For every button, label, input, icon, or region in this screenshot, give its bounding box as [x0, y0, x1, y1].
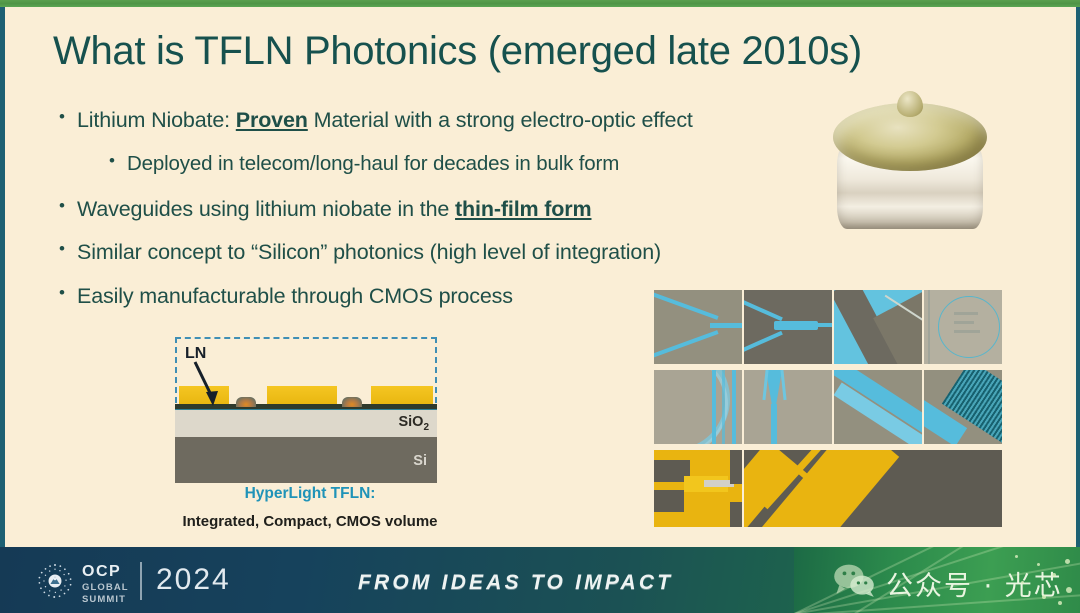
sio2-label-subscript: 2: [423, 422, 429, 433]
footer-tagline: FROM IDEAS TO IMPACT: [358, 571, 673, 595]
waveguide-ridge-1: [236, 397, 256, 407]
bullet-emphasis-1: Proven: [236, 108, 308, 132]
wechat-icon: [832, 563, 876, 597]
wechat-watermark-overlay: 公众号 · 光芯: [794, 547, 1080, 613]
boule-seed-nub: [897, 91, 923, 117]
micrograph-cell-3-2: [654, 450, 742, 527]
bullet-item-3: Waveguides using lithium niobate in the …: [51, 196, 841, 223]
bullet-item-4: Similar concept to “Silicon” photonics (…: [51, 239, 841, 266]
hyperlight-brand-caption: HyperLight TFLN:: [115, 485, 505, 503]
ocp-logo-line2: GLOBAL: [82, 583, 129, 593]
ocp-logo-wordmark: OCP GLOBAL SUMMIT: [82, 564, 129, 604]
ocp-logo-line3: SUMMIT: [82, 595, 129, 605]
lithium-niobate-boule-photo: [831, 85, 989, 250]
diagram-detail-caption: Integrated, Compact, CMOS volume: [105, 513, 515, 530]
micrograph-row-1: [654, 290, 1002, 364]
sio2-label-text: SiO: [398, 414, 423, 430]
gold-electrode-2: [267, 386, 337, 404]
gold-electrode-3: [371, 386, 433, 404]
bullet-text-suffix-1: Material with a strong electro-optic eff…: [308, 108, 693, 132]
bullet-text-prefix-4: Similar concept to “Silicon” photonics (…: [77, 240, 661, 264]
presentation-slide: What is TFLN Photonics (emerged late 201…: [0, 7, 1080, 604]
bullet-text-prefix-1: Lithium Niobate:: [77, 108, 236, 132]
micrograph-cell-2-3: [834, 370, 922, 444]
bullet-emphasis-3: thin-film form: [455, 197, 591, 221]
micrograph-cell-2-2: [744, 370, 832, 444]
micrograph-cell-1-4: [924, 290, 1002, 364]
bullet-item-1: Lithium Niobate: Proven Material with a …: [51, 107, 841, 134]
footer-year: 2024: [156, 563, 231, 597]
bullet-text-prefix-5: Easily manufacturable through CMOS proce…: [77, 284, 513, 308]
ln-pointer-arrow-icon: [189, 359, 225, 409]
micrograph-cell-3-4: [744, 450, 1002, 527]
si-layer-label: Si: [413, 453, 427, 469]
silicon-substrate-layer: [175, 437, 437, 483]
micrograph-cell-2-1: [654, 370, 742, 444]
micrograph-cell-1-2: [744, 290, 832, 364]
ocp-logo-icon: [36, 562, 74, 600]
chip-micrograph-grid: [654, 290, 1002, 527]
micrograph-row-2: [654, 370, 1002, 444]
slide-title: What is TFLN Photonics (emerged late 201…: [53, 29, 862, 74]
micrograph-cell-1-1: [654, 290, 742, 364]
bullet-item-2: Deployed in telecom/long-haul for decade…: [51, 151, 841, 177]
micrograph-row-3: [654, 450, 1002, 527]
bullet-text-prefix-2: Deployed in telecom/long-haul for decade…: [127, 152, 619, 175]
footer-divider: [140, 562, 142, 600]
video-frame: What is TFLN Photonics (emerged late 201…: [0, 0, 1080, 613]
bullet-text-prefix-3: Waveguides using lithium niobate in the: [77, 197, 455, 221]
micrograph-cell-1-3: [834, 290, 922, 364]
player-frame-top-strip: [0, 0, 1080, 7]
tfln-cross-section-diagram: LN SiO2 Si: [175, 337, 437, 483]
ocp-logo-main-text: OCP: [82, 564, 129, 580]
waveguide-ridge-2: [342, 397, 362, 407]
annotation-circle: [938, 296, 1000, 358]
micrograph-cell-2-4: [924, 370, 1002, 444]
wechat-handle-text: 公众号 · 光芯: [886, 564, 1063, 603]
sio2-layer-label: SiO2: [398, 414, 429, 433]
